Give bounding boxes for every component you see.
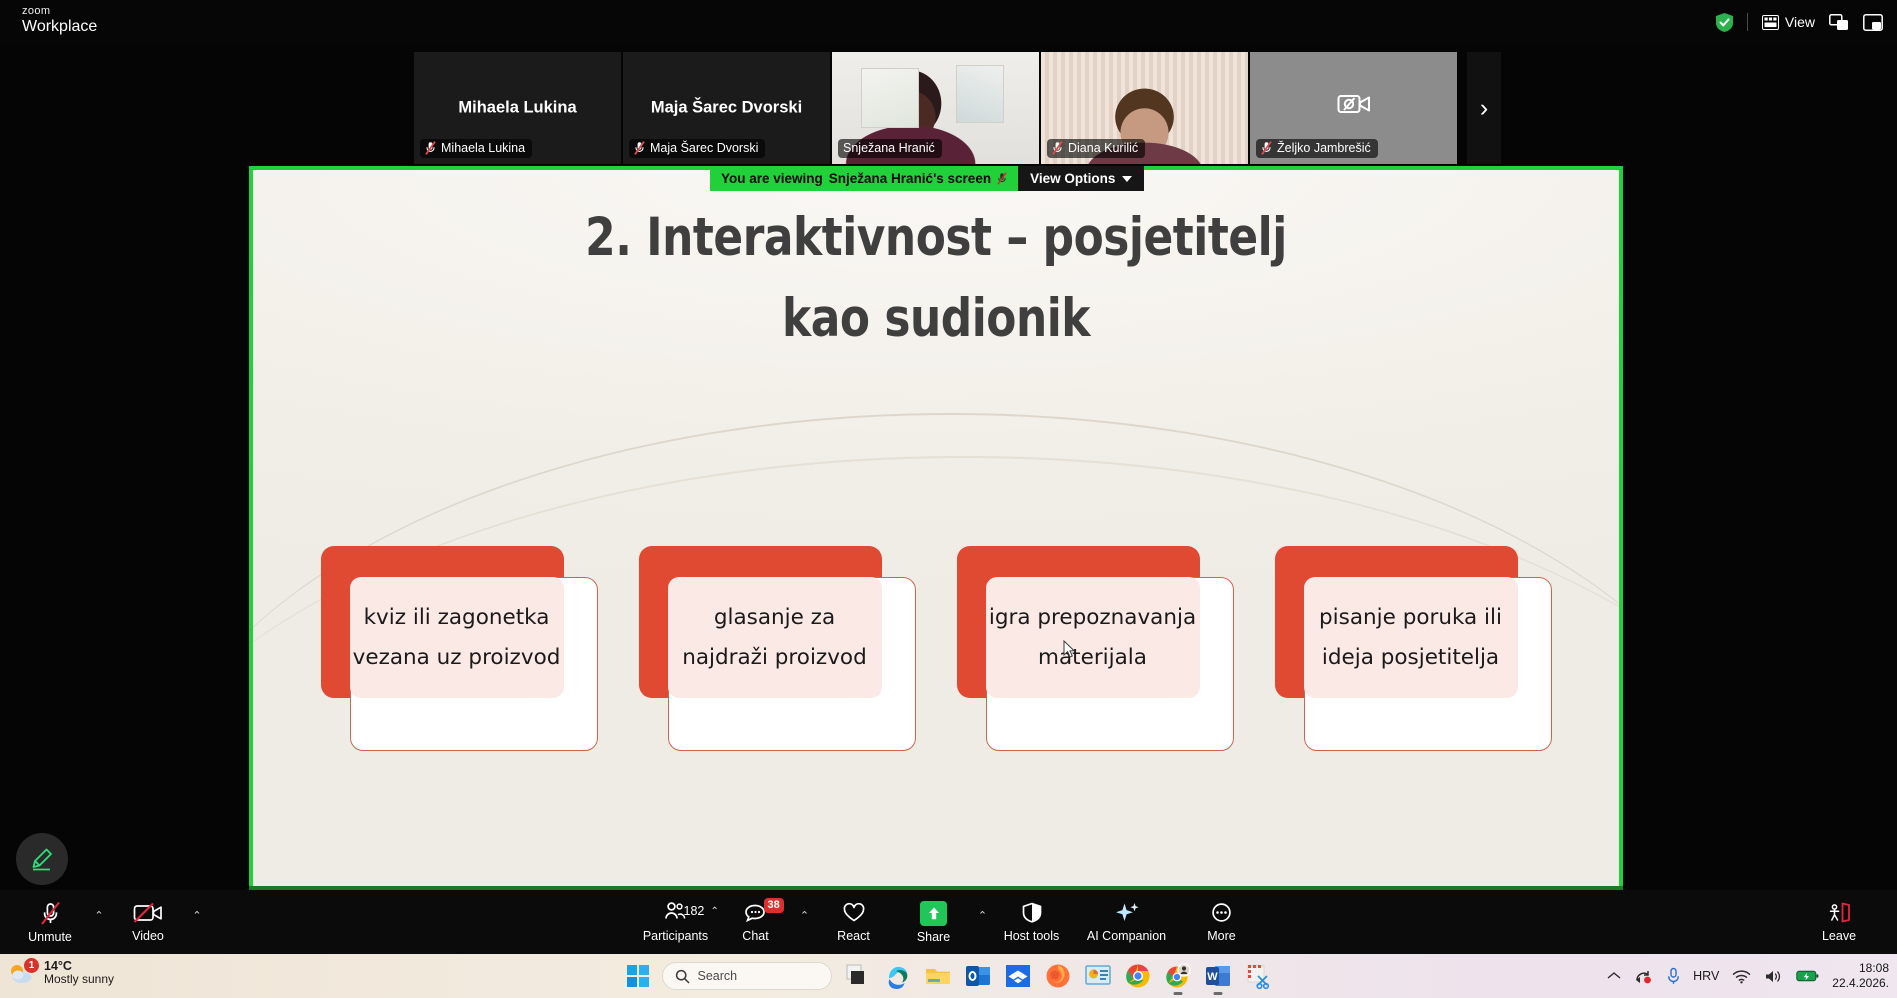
participant-thumbnail[interactable]: Mihaela Lukina Mihaela Lukina	[414, 52, 621, 164]
participants-button[interactable]: 182 ⌃ Participants	[636, 892, 716, 952]
card-text: glasanje za najdraži proizvod	[651, 577, 899, 698]
svg-text:W: W	[1207, 971, 1218, 983]
viewing-sharer-name: Snježana Hranić's screen	[829, 171, 991, 186]
shared-screen-viewport: 2. Interaktivnost – posjetitelj kao sudi…	[249, 166, 1623, 890]
card-text: pisanje poruka ili ideja posjetitelja	[1287, 577, 1535, 698]
wifi-icon[interactable]	[1732, 969, 1751, 984]
slide-title-line-1: 2. Interaktivnost – posjetitelj	[363, 198, 1509, 279]
screen-share-banner: You are viewing Snježana Hranić's screen…	[710, 166, 1144, 191]
firefox-icon[interactable]	[1044, 962, 1072, 990]
participant-display-name: Maja Šarec Dvorski	[623, 99, 830, 118]
slide-card: pisanje poruka ili ideja posjetitelja	[1275, 546, 1552, 751]
participant-name-badge: Mihaela Lukina	[420, 139, 532, 158]
chat-unread-badge: 38	[764, 898, 784, 913]
card-text-line-1: pisanje poruka ili	[1319, 598, 1502, 638]
muted-mic-icon	[1052, 141, 1063, 155]
microphone-muted-icon	[39, 901, 62, 926]
view-layout-button[interactable]: View	[1762, 14, 1815, 30]
system-tray: HRV	[1607, 954, 1889, 998]
viewing-prefix: You are viewing	[721, 171, 823, 186]
mute-toggle-button[interactable]: Unmute	[10, 892, 90, 952]
file-explorer-icon[interactable]	[924, 962, 952, 990]
outlook-icon[interactable]	[964, 962, 992, 990]
participants-label: Participants	[643, 929, 708, 943]
zoom-workplace-logo: zoom Workplace	[22, 6, 97, 35]
ai-companion-button[interactable]: AI Companion	[1072, 892, 1182, 952]
taskbar-clock[interactable]: 18:08 22.4.2026.	[1832, 961, 1889, 991]
microphone-tray-icon[interactable]	[1667, 967, 1680, 985]
annotate-button[interactable]	[16, 833, 68, 885]
task-view-icon[interactable]	[844, 962, 872, 990]
muted-mic-icon	[997, 172, 1007, 185]
chat-options-caret[interactable]: ⌃	[796, 892, 814, 952]
participant-name-text: Mihaela Lukina	[441, 141, 525, 155]
windows-taskbar: 1 14°C Mostly sunny Search	[0, 954, 1897, 998]
card-text-line-1: kviz ili zagonetka	[353, 598, 561, 638]
toolbar-center-group: 182 ⌃ Participants 38 Chat ⌃ React	[636, 890, 1262, 954]
presentation-slide: 2. Interaktivnost – posjetitelj kao sudi…	[253, 170, 1619, 886]
speaker-icon[interactable]	[1764, 969, 1783, 984]
card-text: igra prepoznavanja materijala	[969, 577, 1217, 698]
audio-options-caret[interactable]: ⌃	[90, 892, 108, 952]
battery-charging-icon[interactable]	[1796, 969, 1819, 983]
participant-name-text: Snježana Hranić	[843, 141, 935, 155]
participant-thumbnail[interactable]: Diana Kurilić	[1041, 52, 1248, 164]
toolbar-left-group: Unmute ⌃ Video ⌃	[10, 890, 206, 954]
participant-name-badge: Željko Jambrešić	[1256, 139, 1378, 158]
card-text-line-2: ideja posjetitelja	[1319, 638, 1502, 678]
shield-check-icon[interactable]	[1716, 13, 1733, 32]
participant-name-text: Željko Jambrešić	[1277, 141, 1371, 155]
ai-companion-label: AI Companion	[1087, 929, 1166, 943]
slide-card-row: kviz ili zagonetka vezana uz proizvod gl…	[253, 546, 1619, 751]
card-text-line-2: najdraži proizvod	[682, 638, 866, 678]
chat-label: Chat	[742, 929, 768, 943]
react-button[interactable]: React	[814, 892, 894, 952]
slide-title-line-2: kao sudionik	[363, 279, 1509, 360]
running-indicator	[1213, 992, 1222, 995]
share-screen-icon	[920, 901, 947, 926]
leave-door-icon	[1826, 901, 1852, 925]
participant-thumbnail-strip: Mihaela Lukina Mihaela Lukina Maja Šarec…	[414, 52, 1501, 164]
card-text-line-1: igra prepoznavanja	[989, 598, 1196, 638]
meeting-controls-toolbar: Unmute ⌃ Video ⌃ 182	[0, 890, 1897, 954]
taskbar-search-box[interactable]: Search	[662, 962, 832, 990]
pencil-annotate-icon	[29, 846, 55, 872]
clock-time: 18:08	[1832, 961, 1889, 976]
card-text-line-2: materijala	[989, 638, 1196, 678]
card-text-line-2: vezana uz proizvod	[353, 638, 561, 678]
participant-thumbnail-active-speaker[interactable]: Snježana Hranić	[832, 52, 1039, 164]
search-placeholder: Search	[698, 969, 738, 983]
share-label: Share	[917, 930, 950, 944]
muted-mic-icon	[634, 141, 645, 155]
weather-sun-cloud-icon: 1	[8, 960, 36, 986]
share-options-caret[interactable]: ⌃	[974, 892, 992, 952]
toolbar-divider	[1747, 13, 1748, 31]
host-tools-label: Host tools	[1004, 929, 1060, 943]
react-label: React	[837, 929, 870, 943]
zoom-meeting-window: zoom Workplace View	[0, 0, 1897, 998]
logo-line-workplace: Workplace	[22, 19, 97, 35]
participant-name-badge: Maja Šarec Dvorski	[629, 139, 765, 158]
participant-name-text: Maja Šarec Dvorski	[650, 141, 758, 155]
host-tools-button[interactable]: Host tools	[992, 892, 1072, 952]
heart-icon	[841, 901, 867, 925]
share-screen-button[interactable]: Share	[894, 892, 974, 952]
view-options-button[interactable]: View Options	[1018, 166, 1144, 191]
zoom-title-bar: zoom Workplace View	[0, 0, 1897, 44]
participants-count: 182	[684, 904, 705, 918]
grid-view-icon	[1762, 15, 1779, 30]
search-icon	[675, 969, 690, 984]
dropbox-icon[interactable]	[1004, 962, 1032, 990]
mouse-cursor	[1063, 640, 1075, 658]
keyboard-language-indicator[interactable]: HRV	[1693, 969, 1719, 983]
word-icon[interactable]: W	[1204, 962, 1232, 990]
camera-off-icon	[133, 901, 163, 925]
weather-temperature: 14°C	[44, 959, 114, 973]
muted-mic-icon	[425, 141, 436, 155]
chevron-up-icon[interactable]	[1607, 971, 1621, 981]
muted-mic-icon	[1261, 141, 1272, 155]
camera-off-icon	[1337, 91, 1371, 117]
snipping-tool-icon[interactable]	[1244, 962, 1272, 990]
card-text-line-1: glasanje za	[682, 598, 866, 638]
strip-next-arrow-button[interactable]: ›	[1467, 52, 1501, 164]
view-label: View	[1785, 14, 1815, 30]
weather-condition: Mostly sunny	[44, 973, 114, 987]
video-label: Video	[132, 929, 164, 943]
slide-card: glasanje za najdraži proizvod	[639, 546, 916, 751]
screen-record-icon[interactable]	[1634, 967, 1654, 985]
chevron-down-icon	[1122, 176, 1132, 182]
windows-start-icon[interactable]	[626, 964, 650, 988]
card-text: kviz ili zagonetka vezana uz proizvod	[333, 577, 581, 698]
leave-meeting-button[interactable]: Leave	[1799, 892, 1879, 952]
participant-thumbnail[interactable]: Željko Jambrešić	[1250, 52, 1457, 164]
powerpoint-icon[interactable]	[1084, 962, 1112, 990]
mute-label: Unmute	[28, 930, 72, 944]
participant-thumbnail[interactable]: Maja Šarec Dvorski Maja Šarec Dvorski	[623, 52, 830, 164]
running-indicator	[1173, 992, 1182, 995]
more-button[interactable]: More	[1182, 892, 1262, 952]
participant-name-badge: Diana Kurilić	[1047, 139, 1145, 158]
weather-notification-badge: 1	[24, 958, 39, 973]
sparkle-icon	[1113, 901, 1141, 925]
video-toggle-button[interactable]: Video	[108, 892, 188, 952]
participant-display-name: Mihaela Lukina	[414, 99, 621, 118]
minimize-window-icon[interactable]	[1829, 14, 1849, 31]
view-options-label: View Options	[1030, 171, 1115, 186]
weather-text: 14°C Mostly sunny	[44, 959, 114, 987]
microsoft-edge-icon[interactable]	[884, 962, 912, 990]
leave-label: Leave	[1822, 929, 1856, 943]
viewing-notice: You are viewing Snježana Hranić's screen	[710, 166, 1018, 191]
more-label: More	[1207, 929, 1235, 943]
toolbar-right-group: Leave	[1799, 890, 1879, 954]
clock-date: 22.4.2026.	[1832, 976, 1889, 991]
taskbar-center-group: Search	[626, 954, 1272, 998]
title-bar-controls: View	[1716, 0, 1883, 44]
exit-fullscreen-icon[interactable]	[1863, 14, 1883, 31]
slide-card: igra prepoznavanja materijala	[957, 546, 1234, 751]
chat-button[interactable]: 38 Chat	[716, 892, 796, 952]
slide-card: kviz ili zagonetka vezana uz proizvod	[321, 546, 598, 751]
participant-name-badge: Snježana Hranić	[838, 139, 942, 158]
chrome-icon[interactable]	[1124, 962, 1152, 990]
taskbar-weather-widget[interactable]: 1 14°C Mostly sunny	[8, 959, 114, 987]
slide-title: 2. Interaktivnost – posjetitelj kao sudi…	[363, 198, 1509, 359]
upload-arrow-icon	[927, 906, 941, 921]
more-dots-icon	[1209, 901, 1234, 925]
video-options-caret[interactable]: ⌃	[188, 892, 206, 952]
chrome-profile-icon[interactable]	[1164, 962, 1192, 990]
participant-name-text: Diana Kurilić	[1068, 141, 1138, 155]
logo-line-zoom: zoom	[22, 6, 97, 17]
shield-host-icon	[1021, 901, 1043, 925]
